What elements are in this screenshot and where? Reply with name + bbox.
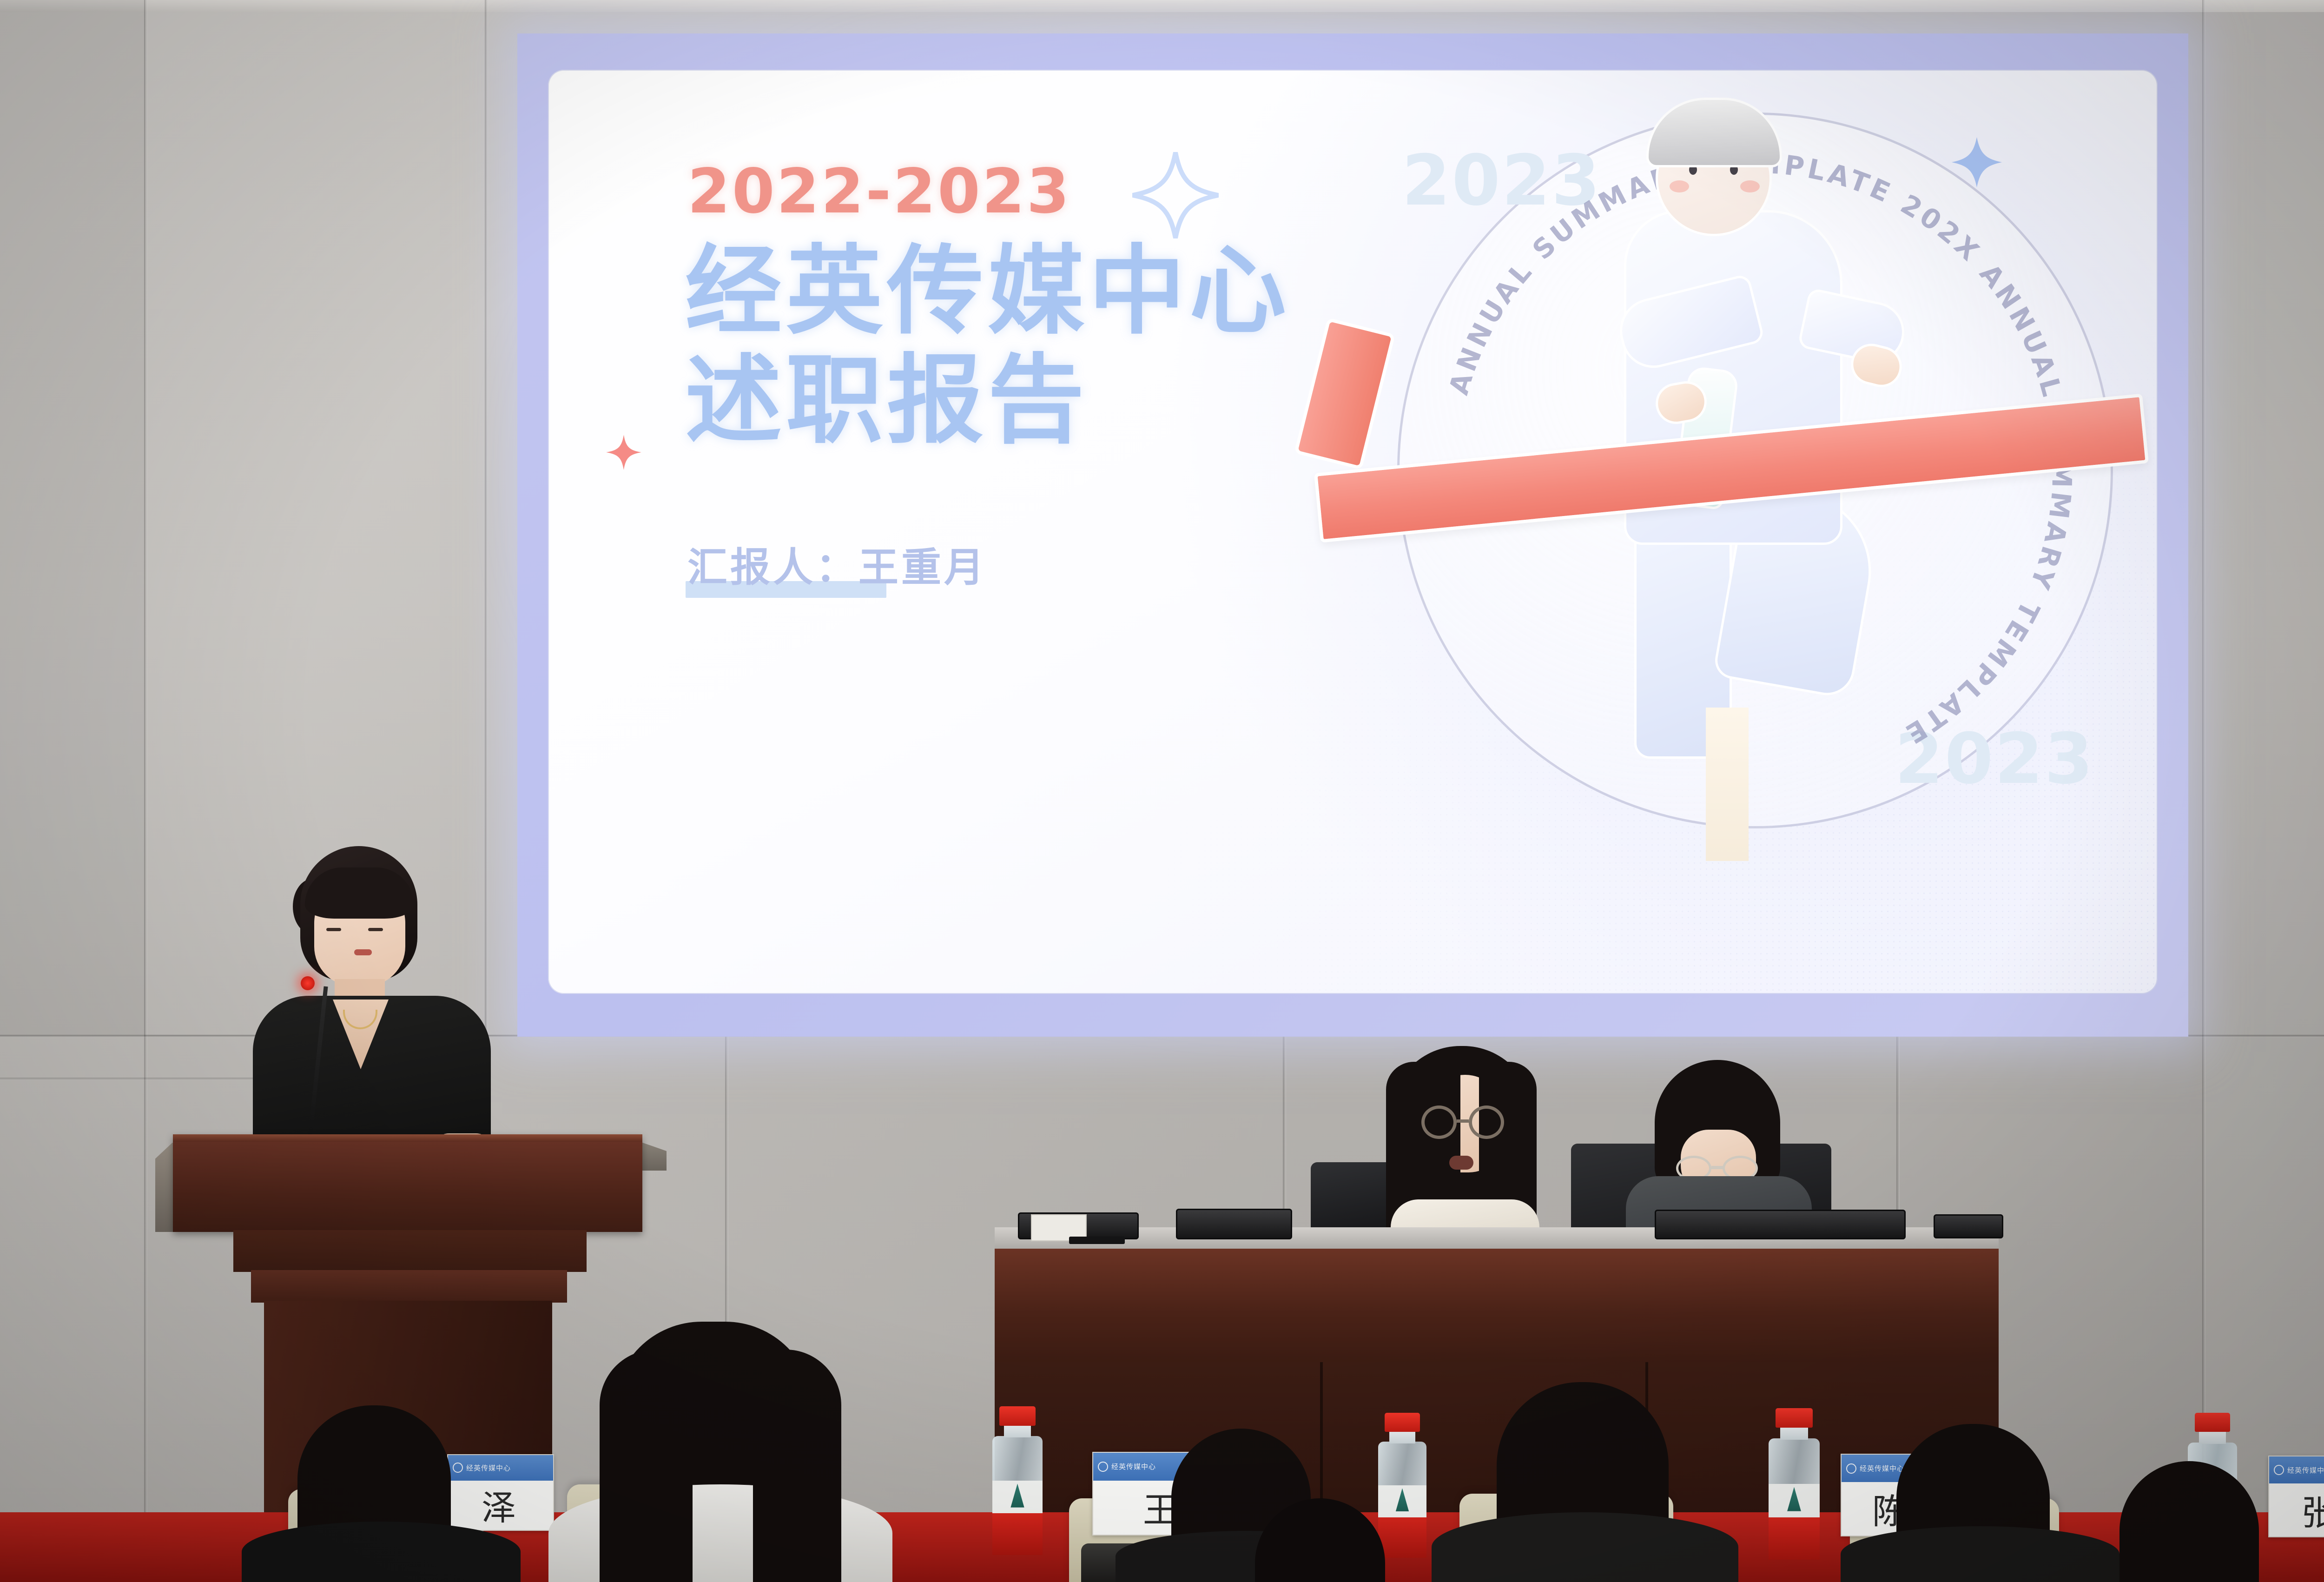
speaker-eye-left <box>326 928 341 931</box>
bottle-cap <box>1776 1408 1812 1428</box>
nameplate-org: 经英传媒中心 <box>466 1463 511 1473</box>
bottle-cap <box>999 1406 1036 1426</box>
nameplate-org: 经英传媒中心 <box>1860 1463 1904 1473</box>
bottle-neck <box>1780 1426 1808 1440</box>
audience-shoulders <box>1841 1526 2119 1582</box>
podium-apron <box>233 1230 587 1272</box>
ceiling-band <box>0 0 2324 12</box>
slide-byline: 汇报人：王重月 <box>687 535 987 593</box>
panelist-left-mouth <box>1449 1156 1473 1170</box>
speaker-eye-right <box>368 928 383 931</box>
bottle-neck <box>2199 1430 2226 1444</box>
conference-hall-photo: 2023 2023 ANNUAL SUMMARY TEMPLATE 202X A… <box>0 0 2324 1582</box>
wall-panel <box>0 0 145 1035</box>
annual-summary-badge: 2023 2023 ANNUAL SUMMARY TEMPLATE 202X A… <box>1397 113 2113 828</box>
presentation-slide: 2023 2023 ANNUAL SUMMARY TEMPLATE 202X A… <box>548 70 2158 994</box>
water-bottle <box>989 1406 1046 1555</box>
nameplate-org: 经英传媒中心 <box>2287 1465 2324 1475</box>
bottle-label-red <box>992 1513 1042 1555</box>
podium-desktop <box>173 1134 642 1232</box>
glasses-bridge <box>1711 1166 1723 1169</box>
audience-hair-strand <box>600 1350 693 1582</box>
bottle-neck <box>1004 1424 1031 1437</box>
university-logo-icon <box>1098 1462 1108 1472</box>
university-logo-icon <box>2274 1465 2284 1475</box>
university-logo-icon <box>1846 1463 1856 1474</box>
water-bottle <box>1375 1413 1430 1558</box>
wall-panel <box>2203 0 2324 1582</box>
bottle-cap <box>2195 1413 2231 1432</box>
audience-shoulders <box>242 1522 521 1582</box>
nameplate-front-left: 经英传媒中心 泽 <box>447 1454 554 1531</box>
figure-pedestal <box>1706 708 1749 861</box>
bottle-cap <box>1385 1413 1420 1432</box>
microphone-led <box>301 976 315 990</box>
bottle-neck <box>1389 1430 1416 1443</box>
glasses-lens-left <box>1421 1105 1457 1139</box>
panel-monitor-right <box>1655 1210 1906 1239</box>
panelist-left <box>1362 1046 1576 1241</box>
audience-shoulders <box>1432 1512 1738 1582</box>
glasses-lens-right <box>1469 1105 1504 1139</box>
speaker-fringe <box>305 867 414 919</box>
panel-monitor-center <box>1176 1209 1292 1239</box>
nameplate-org: 经英传媒中心 <box>1111 1462 1156 1471</box>
panel-monitor-far-right <box>1934 1214 2003 1238</box>
panelist-left-glasses <box>1421 1105 1510 1143</box>
slide-year-range: 2022-2023 <box>687 156 1071 227</box>
sparkle-outline-blue-icon <box>1129 149 1222 242</box>
figure-cheek-left <box>1670 180 1689 192</box>
water-bottle <box>1765 1408 1823 1560</box>
nameplate-band: 经英传媒中心 <box>2269 1456 2324 1483</box>
bottle-label-red <box>1769 1517 1819 1560</box>
figure-cheek-right <box>1740 180 1760 192</box>
nameplate-name: 张 <box>2269 1483 2324 1536</box>
slide-title-line1: 经英传媒中心 <box>685 235 1290 348</box>
figure-hat <box>1646 98 1782 167</box>
projection-screen: 2023 2023 ANNUAL SUMMARY TEMPLATE 202X A… <box>517 33 2188 1037</box>
nameplate-front-right: 经英传媒中心 张 <box>2268 1456 2324 1537</box>
sparkle-solid-blue-icon <box>1949 135 2004 190</box>
panel-monitor-stand <box>1069 1237 1125 1244</box>
slide-title-line2: 述职报告 <box>685 344 1089 457</box>
university-logo-icon <box>453 1463 463 1473</box>
podium-desktop-edge <box>173 1134 642 1142</box>
panel-table-front <box>995 1249 1999 1365</box>
nameplate-band: 经英传媒中心 <box>448 1455 553 1481</box>
podium-cornice <box>251 1270 567 1303</box>
speaker-lips <box>354 949 372 955</box>
glasses-bridge <box>1457 1119 1469 1123</box>
nameplate-name: 泽 <box>448 1481 553 1530</box>
slide-title: 经英传媒中心述职报告 <box>685 237 1290 456</box>
bottle-label-red <box>1378 1517 1426 1558</box>
audience-hair-strand <box>753 1350 841 1582</box>
sparkle-pink-icon <box>604 432 644 472</box>
